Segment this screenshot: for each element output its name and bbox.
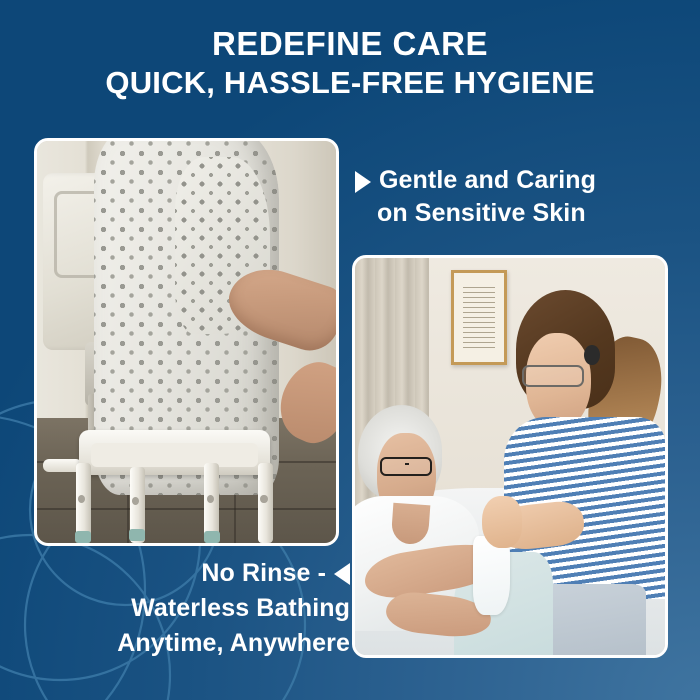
caregiver-hand xyxy=(482,496,522,548)
triangle-right-icon xyxy=(355,171,371,193)
triangle-left-icon xyxy=(334,563,350,585)
shower-chair-photo xyxy=(34,138,339,546)
chair-foot xyxy=(129,529,145,541)
feature-norinse-line-2: Waterless Bathing xyxy=(10,591,350,626)
senior-glasses xyxy=(380,457,433,477)
headline-block: REDEFINE CARE QUICK, HASSLE-FREE HYGIENE xyxy=(0,24,700,102)
shower-chair-scene xyxy=(37,141,336,543)
feature-no-rinse: No Rinse - Waterless Bathing Anytime, An… xyxy=(10,556,350,661)
feature-gentle-caring: Gentle and Caring on Sensitive Skin xyxy=(355,164,685,230)
cleansing-wipe xyxy=(473,536,510,615)
chair-foot xyxy=(204,531,220,543)
wall-picture-frame xyxy=(451,270,507,365)
caregiver-hair-tie xyxy=(584,345,600,365)
feature-gentle-line-2: on Sensitive Skin xyxy=(355,197,685,230)
headline-line-2: QUICK, HASSLE-FREE HYGIENE xyxy=(0,64,700,102)
chair-foot xyxy=(75,531,91,543)
caregiver-photo xyxy=(352,255,668,658)
caregiver-glasses xyxy=(522,365,584,387)
chair-seat-inner xyxy=(91,443,258,467)
headline-line-1: REDEFINE CARE xyxy=(0,24,700,64)
feature-norinse-line-1: No Rinse - xyxy=(201,556,326,591)
feature-gentle-line-1: Gentle and Caring xyxy=(379,164,596,197)
chair-leg xyxy=(258,463,273,543)
promo-poster: REDEFINE CARE QUICK, HASSLE-FREE HYGIENE xyxy=(0,0,700,700)
caregiver-scene xyxy=(355,258,665,655)
feature-norinse-line-3: Anytime, Anywhere xyxy=(10,626,350,661)
